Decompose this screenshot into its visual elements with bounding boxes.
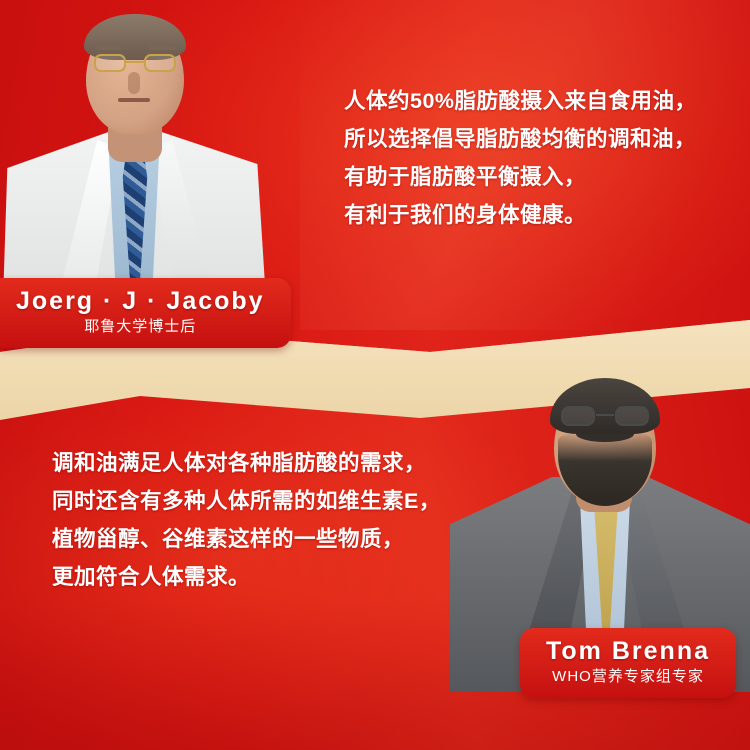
nameplate-role: 耶鲁大学博士后 <box>16 316 265 338</box>
quote-line: 所以选择倡导脂肪酸均衡的调和油， <box>344 120 734 158</box>
quote-text-top: 人体约50%脂肪酸摄入来自食用油， 所以选择倡导脂肪酸均衡的调和油， 有助于脂肪… <box>344 82 734 234</box>
eyebrow-right <box>149 46 175 50</box>
nose <box>128 72 140 94</box>
eyeglasses-icon <box>92 54 178 72</box>
lens-right <box>144 54 176 72</box>
nameplate-role: WHO营养专家组专家 <box>546 666 710 688</box>
glasses-bridge <box>596 414 614 416</box>
promo-poster: 人体约50%脂肪酸摄入来自食用油， 所以选择倡导脂肪酸均衡的调和油， 有助于脂肪… <box>0 0 750 750</box>
quote-line: 人体约50%脂肪酸摄入来自食用油， <box>344 82 734 120</box>
quote-line: 同时还含有多种人体所需的如维生素E， <box>52 482 492 520</box>
eyeglasses-icon <box>560 406 650 426</box>
quote-line: 更加符合人体需求。 <box>52 558 492 596</box>
quote-line: 调和油满足人体对各种脂肪酸的需求， <box>52 444 492 482</box>
quote-text-bottom: 调和油满足人体对各种脂肪酸的需求， 同时还含有多种人体所需的如维生素E， 植物甾… <box>52 444 492 596</box>
nameplate-brenna: Tom Brenna WHO营养专家组专家 <box>520 628 736 698</box>
nameplate-name: Tom Brenna <box>546 636 710 666</box>
lens-right <box>615 406 649 426</box>
quote-line: 植物甾醇、谷维素这样的一些物质， <box>52 520 492 558</box>
nameplate-name: Joerg · J · Jacoby <box>16 286 265 316</box>
nameplate-jacoby: Joerg · J · Jacoby 耶鲁大学博士后 <box>0 278 291 348</box>
glasses-bridge <box>126 61 144 63</box>
lens-left <box>561 406 595 426</box>
mouth <box>118 98 150 102</box>
quote-line: 有助于脂肪酸平衡摄入， <box>344 158 734 196</box>
lens-left <box>94 54 126 72</box>
eyebrow-left <box>95 46 121 50</box>
quote-line: 有利于我们的身体健康。 <box>344 196 734 234</box>
